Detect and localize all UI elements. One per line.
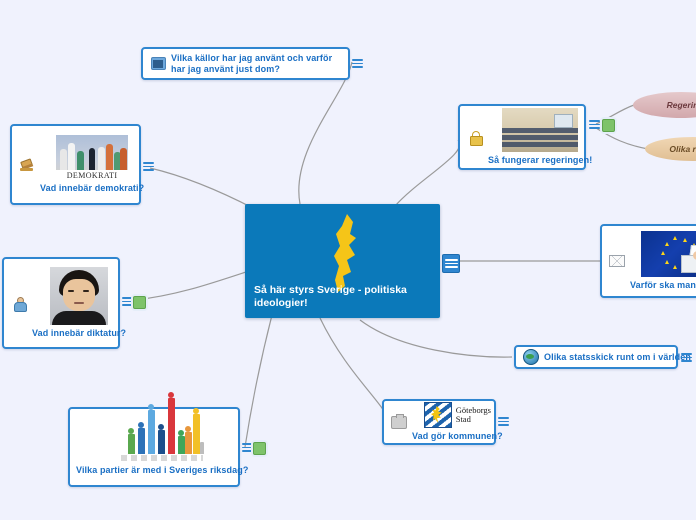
branch-dot-dictatorship[interactable] bbox=[133, 296, 146, 309]
sweden-map-icon bbox=[323, 212, 365, 294]
gavel-icon bbox=[18, 156, 36, 174]
bar-chart-icon bbox=[121, 419, 203, 461]
node-democracy[interactable]: DEMOKRATI Vad innebär demokrati? bbox=[10, 124, 141, 205]
globe-icon bbox=[522, 348, 540, 366]
central-node-title: Så här styrs Sverige - politiska ideolog… bbox=[254, 284, 432, 310]
lock-icon bbox=[466, 128, 484, 146]
democracy-image: DEMOKRATI bbox=[56, 135, 128, 181]
collapse-toggle-democracy[interactable] bbox=[143, 162, 154, 171]
node-voting[interactable]: Varför ska man rösta? bbox=[600, 224, 696, 298]
collapse-toggle-sources[interactable] bbox=[352, 59, 363, 68]
collapse-toggle-parties[interactable] bbox=[242, 443, 253, 452]
logo-line-1: Göteborgs bbox=[456, 405, 491, 415]
voting-image bbox=[641, 231, 696, 277]
node-systems[interactable]: Olika statsskick runt om i världen bbox=[514, 345, 678, 369]
node-government-label: Så fungerar regeringen! bbox=[488, 155, 592, 166]
node-parties-label: Vilka partier är med i Sveriges riksdag? bbox=[76, 465, 248, 476]
node-parties[interactable]: Vilka partier är med i Sveriges riksdag? bbox=[68, 407, 240, 487]
monitor-icon bbox=[149, 55, 167, 73]
briefcase-icon bbox=[390, 413, 408, 431]
node-dictatorship-label: Vad innebär diktatur? bbox=[32, 328, 126, 339]
collapse-toggle-government[interactable] bbox=[589, 120, 600, 129]
pill-node-regeringen-label: Regeringen bbox=[649, 100, 696, 110]
branch-dot-government[interactable] bbox=[602, 119, 615, 132]
government-image bbox=[502, 108, 578, 152]
collapse-toggle-systems[interactable] bbox=[681, 353, 692, 362]
logo-line-2: Stad bbox=[456, 414, 471, 424]
node-sources-label: Vilka källor har jag använt och varför h… bbox=[171, 53, 342, 75]
node-democracy-label: Vad innebär demokrati? bbox=[40, 183, 144, 194]
democracy-image-caption: DEMOKRATI bbox=[56, 170, 128, 181]
envelope-icon bbox=[608, 252, 626, 270]
pill-node-olika-regeringar[interactable]: Olika regeringar bbox=[645, 137, 696, 161]
node-systems-label: Olika statsskick runt om i världen bbox=[544, 352, 691, 363]
goteborgs-stad-wordmark: Göteborgs Stad bbox=[456, 406, 491, 425]
central-node[interactable]: Så här styrs Sverige - politiska ideolog… bbox=[245, 204, 440, 318]
pill-node-regeringen[interactable]: Regeringen bbox=[633, 92, 696, 118]
dictatorship-portrait bbox=[50, 267, 108, 325]
pill-node-olika-regeringar-label: Olika regeringar bbox=[651, 144, 696, 154]
mindmap-canvas: Så här styrs Sverige - politiska ideolog… bbox=[0, 0, 696, 520]
node-sources[interactable]: Vilka källor har jag använt och varför h… bbox=[141, 47, 350, 80]
node-municipality[interactable]: Göteborgs Stad Vad gör kommunen? bbox=[382, 399, 496, 445]
person-icon bbox=[10, 294, 28, 312]
goteborgs-stad-logo bbox=[424, 402, 452, 428]
node-dictatorship[interactable]: Vad innebär diktatur? bbox=[2, 257, 120, 349]
collapse-toggle-central-right[interactable] bbox=[442, 254, 460, 273]
node-voting-label: Varför ska man rösta? bbox=[630, 280, 696, 291]
collapse-toggle-dictatorship[interactable] bbox=[122, 297, 133, 306]
branch-dot-parties[interactable] bbox=[253, 442, 266, 455]
collapse-toggle-municipality[interactable] bbox=[498, 417, 509, 426]
node-government[interactable]: Så fungerar regeringen! bbox=[458, 104, 586, 170]
node-municipality-label: Vad gör kommunen? bbox=[412, 431, 503, 442]
